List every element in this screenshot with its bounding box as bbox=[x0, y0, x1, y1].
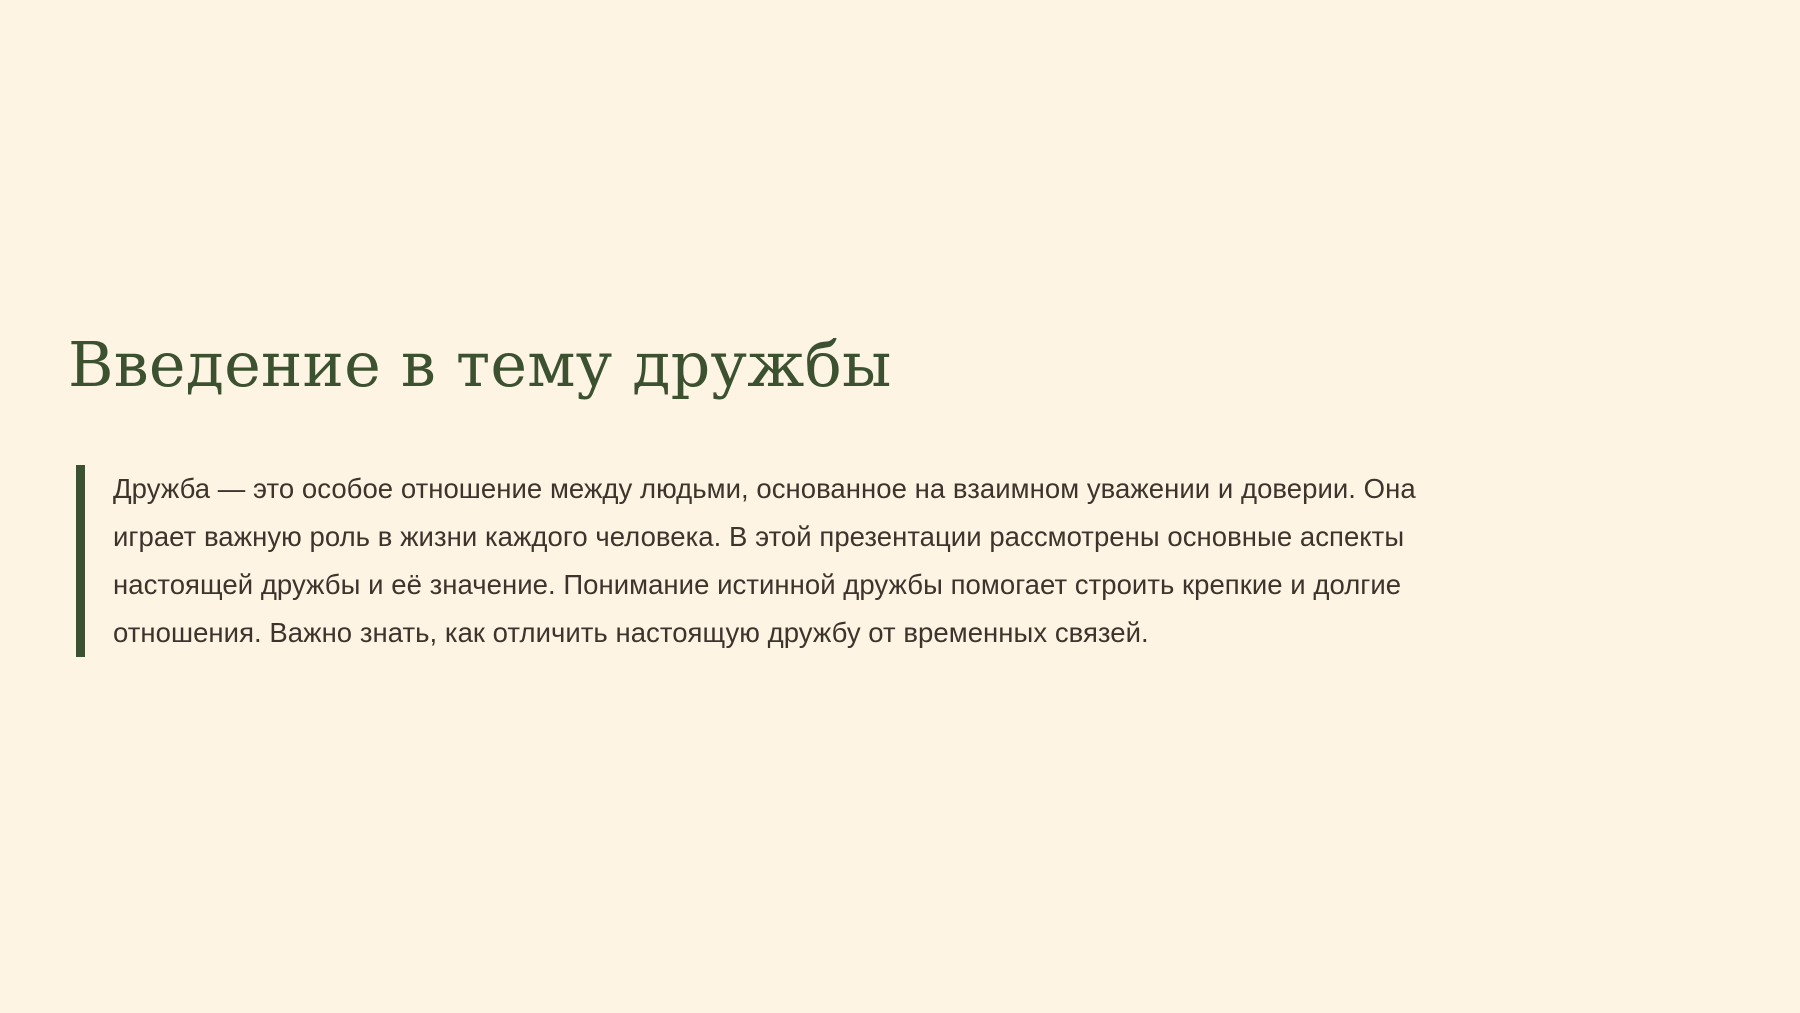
page-title: Введение в тему дружбы bbox=[68, 330, 1718, 399]
presentation-slide: Введение в тему дружбы Дружба — это особ… bbox=[0, 0, 1800, 1013]
body-text-container: Дружба — это особое отношение между людь… bbox=[85, 465, 1696, 657]
left-accent-bar bbox=[76, 465, 85, 657]
body-paragraph: Дружба — это особое отношение между людь… bbox=[113, 465, 1503, 657]
body-callout-block: Дружба — это особое отношение между людь… bbox=[76, 465, 1696, 657]
